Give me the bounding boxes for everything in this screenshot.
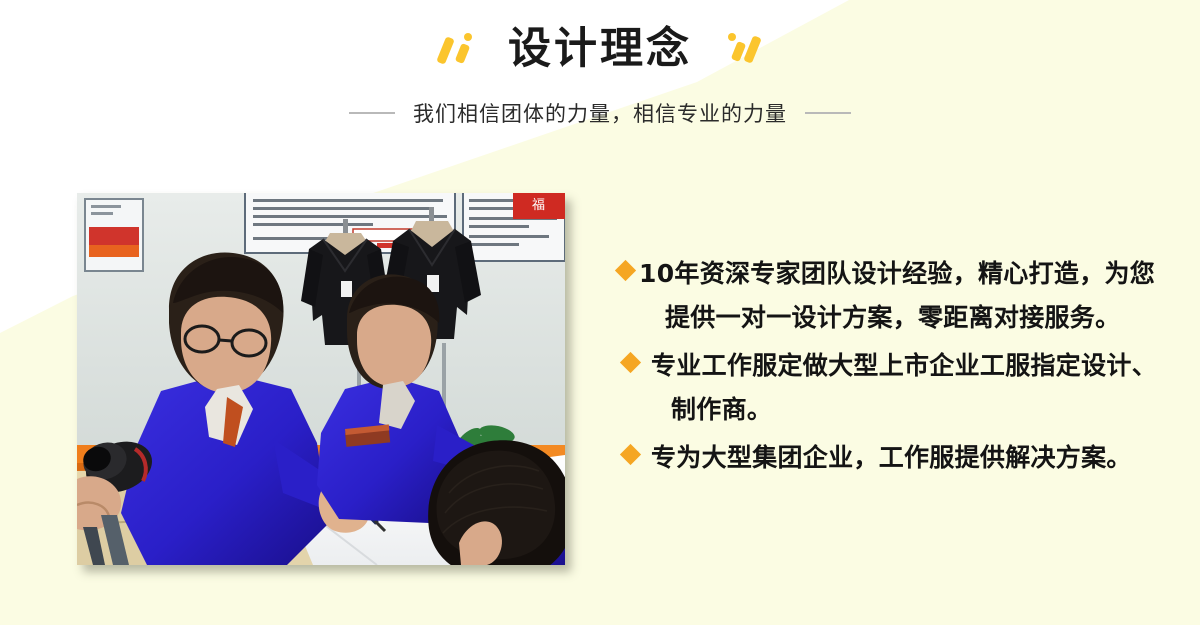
list-item: 专为大型集团企业，工作服提供解决方案。 (618, 436, 1163, 480)
bullet-text: 专业工作服定做大型上市企业工服指定设计、 制作商。 (651, 344, 1157, 432)
subtitle-row: 我们相信团体的力量，相信专业的力量 (0, 96, 1200, 130)
bullet-line-2: 提供一对一设计方案，零距离对接服务。 (639, 296, 1155, 340)
diamond-bullet-icon (620, 352, 641, 373)
page-title: 设计理念 (508, 28, 692, 71)
feature-bullet-list: 10年资深专家团队设计经验，精心打造，为您 提供一对一设计方案，零距离对接服务。… (618, 252, 1163, 484)
diamond-bullet-icon (615, 260, 636, 281)
photo-illustration: 福 (77, 193, 565, 565)
svg-text:福: 福 (532, 198, 545, 213)
slash-decoration-left-icon (436, 28, 482, 70)
list-item: 10年资深专家团队设计经验，精心打造，为您 提供一对一设计方案，零距离对接服务。 (618, 252, 1163, 340)
bullet-line-1: 专业工作服定做大型上市企业工服指定设计、 (651, 351, 1157, 380)
header: 设计理念 我们相信团体的力量，相信专业的力量 (0, 0, 1200, 150)
title-row: 设计理念 (0, 18, 1200, 80)
bullet-line-1: 专为大型集团企业，工作服提供解决方案。 (651, 443, 1132, 472)
bullet-line-2: 制作商。 (651, 388, 1157, 432)
bullet-text: 10年资深专家团队设计经验，精心打造，为您 提供一对一设计方案，零距离对接服务。 (639, 252, 1155, 340)
list-item: 专业工作服定做大型上市企业工服指定设计、 制作商。 (618, 344, 1163, 432)
bullet-text: 专为大型集团企业，工作服提供解决方案。 (651, 436, 1132, 480)
team-design-photo: 福 (77, 193, 565, 565)
slash-decoration-right-icon (718, 28, 764, 70)
subtitle-rule-right (805, 112, 851, 114)
subtitle-rule-left (349, 112, 395, 114)
diamond-bullet-icon (620, 444, 641, 465)
page-subtitle: 我们相信团体的力量，相信专业的力量 (413, 98, 787, 128)
bullet-line-1: 10年资深专家团队设计经验，精心打造，为您 (639, 259, 1155, 288)
